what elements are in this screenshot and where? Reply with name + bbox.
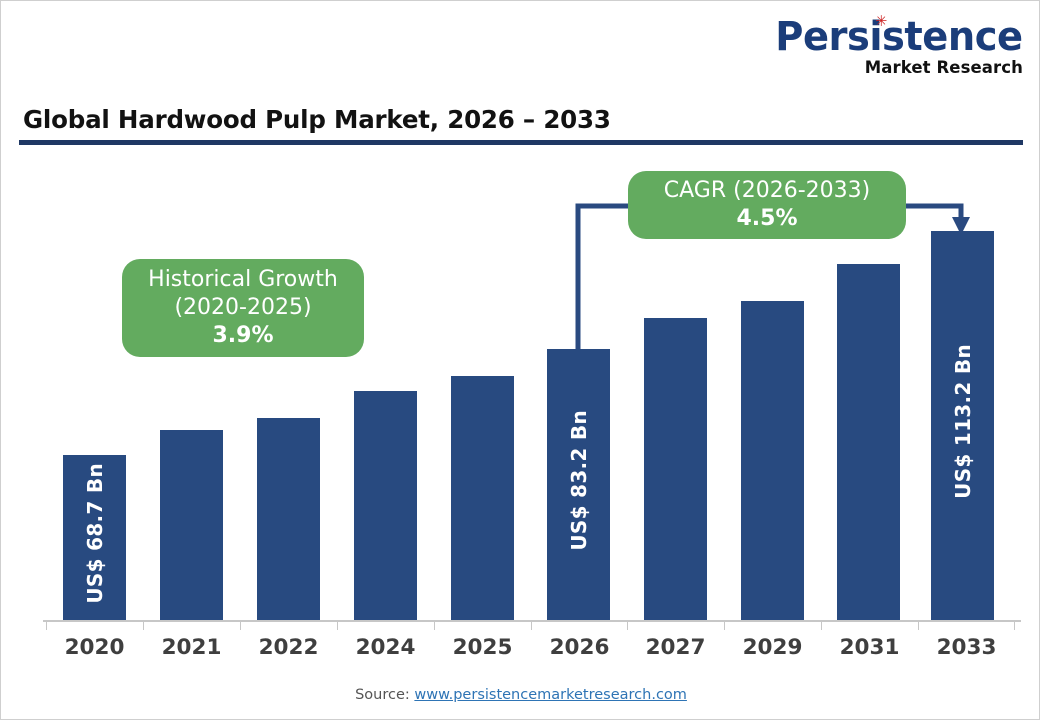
axis-tick	[821, 621, 822, 630]
x-axis-label-2022: 2022	[240, 635, 337, 660]
x-axis-label-2031: 2031	[821, 635, 918, 660]
bar-value-label-2020: US$ 68.7 Bn	[83, 463, 107, 604]
bar-2031	[837, 264, 900, 621]
bar-2020: US$ 68.7 Bn	[63, 455, 126, 621]
axis-tick	[531, 621, 532, 630]
bar-2027	[644, 318, 707, 621]
axis-tick	[1014, 621, 1015, 630]
x-axis-label-2029: 2029	[724, 635, 821, 660]
source-footer: Source: www.persistencemarketresearch.co…	[1, 687, 1040, 703]
x-axis-label-2026: 2026	[531, 635, 628, 660]
bar-2025	[451, 376, 514, 621]
historical-callout-value: 3.9%	[212, 322, 273, 350]
historical-growth-callout: Historical Growth (2020-2025) 3.9%	[122, 259, 364, 357]
logo-subtitle: Market Research	[765, 60, 1023, 77]
historical-callout-line1: Historical Growth	[148, 266, 338, 294]
axis-tick	[434, 621, 435, 630]
bar-2021	[160, 430, 223, 621]
x-axis-label-2027: 2027	[627, 635, 724, 660]
logo-wordmark: Persistence✳	[776, 17, 1023, 57]
bar-value-label-2033: US$ 113.2 Bn	[951, 344, 975, 499]
cagr-callout-line1: CAGR (2026-2033)	[664, 177, 870, 205]
source-prefix: Source:	[355, 687, 414, 703]
cagr-callout: CAGR (2026-2033) 4.5%	[628, 171, 906, 239]
axis-tick	[724, 621, 725, 630]
x-axis-line	[43, 620, 1021, 622]
axis-tick	[143, 621, 144, 630]
bar-2024	[354, 391, 417, 621]
cagr-callout-value: 4.5%	[736, 205, 797, 233]
axis-tick	[337, 621, 338, 630]
bar-2033: US$ 113.2 Bn	[931, 231, 994, 621]
axis-tick	[46, 621, 47, 630]
x-axis-label-2020: 2020	[46, 635, 143, 660]
historical-callout-line2: (2020-2025)	[174, 294, 311, 322]
bar-value-label-2026: US$ 83.2 Bn	[567, 410, 591, 551]
logo-word-text: Persistence	[776, 14, 1023, 60]
x-axis-label-2025: 2025	[434, 635, 531, 660]
company-logo: Persistence✳ Market Research	[765, 17, 1023, 77]
bar-2022	[257, 418, 320, 621]
x-axis-label-2024: 2024	[337, 635, 434, 660]
x-axis-label-2033: 2033	[918, 635, 1015, 660]
x-axis-label-2021: 2021	[143, 635, 240, 660]
chart-page: Persistence✳ Market Research Global Hard…	[0, 0, 1040, 720]
source-link[interactable]: www.persistencemarketresearch.com	[414, 687, 687, 703]
logo-star-icon: ✳	[876, 14, 888, 29]
axis-tick	[627, 621, 628, 630]
bar-2029	[741, 301, 804, 621]
axis-tick	[240, 621, 241, 630]
title-divider	[19, 140, 1023, 145]
page-title: Global Hardwood Pulp Market, 2026 – 2033	[23, 105, 611, 134]
axis-tick	[918, 621, 919, 630]
bar-2026: US$ 83.2 Bn	[547, 349, 610, 621]
